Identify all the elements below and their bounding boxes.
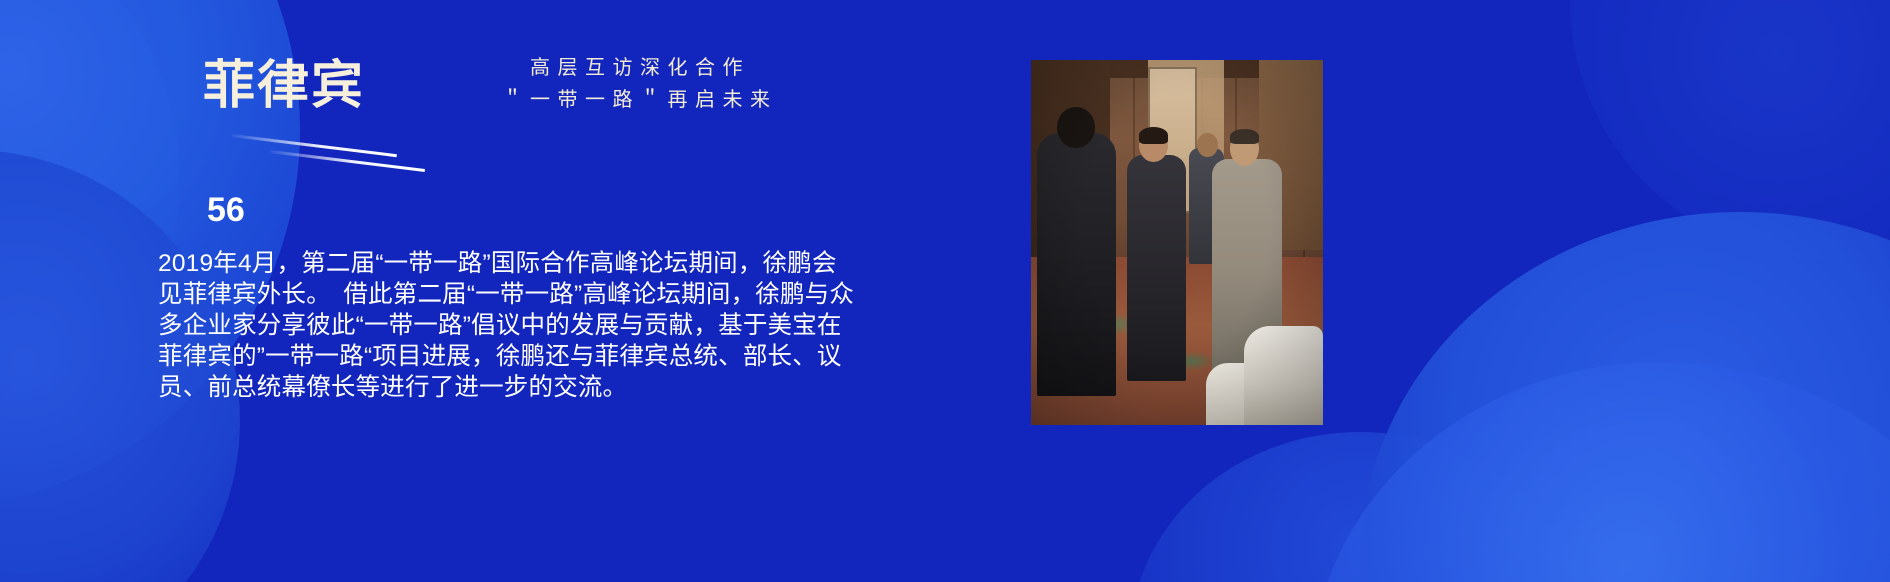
body-paragraph-container: 2019年4月，第二届“一带一路”国际合作高峰论坛期间，徐鹏会见菲律宾外长。 借… [158, 248, 858, 403]
decoration-line-1 [232, 134, 397, 157]
content-column: 菲律宾 高层互访深化合作 ＂一带一路＂再启未来 56 2019年4月，第二届“一… [0, 0, 1000, 582]
presentation-slide: 菲律宾 高层互访深化合作 ＂一带一路＂再启未来 56 2019年4月，第二届“一… [0, 0, 1890, 582]
page-title: 菲律宾 [203, 58, 365, 115]
headline-line-1: 高层互访深化合作 [430, 52, 850, 84]
title-underline-decoration [232, 130, 422, 164]
photo [1031, 60, 1323, 425]
headline: 高层互访深化合作 ＂一带一路＂再启未来 [430, 52, 850, 116]
decoration-line-2 [270, 150, 425, 171]
item-number: 56 [207, 191, 245, 230]
body-paragraph: 2019年4月，第二届“一带一路”国际合作高峰论坛期间，徐鹏会见菲律宾外长。 借… [158, 248, 858, 403]
photo-scene [1031, 60, 1323, 425]
photo-vignette [1031, 60, 1323, 425]
headline-line-2: ＂一带一路＂再启未来 [430, 84, 850, 116]
